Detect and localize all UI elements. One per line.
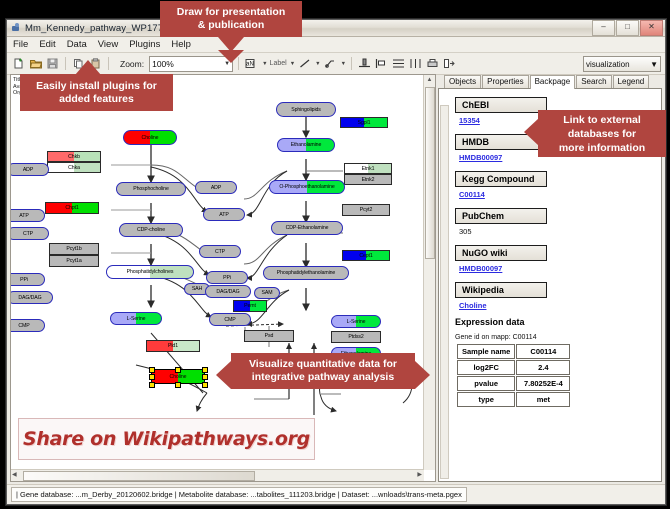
scroll-thumb-horizontal[interactable] — [23, 471, 255, 481]
status-text: | Gene database: ...m_Derby_20120602.bri… — [11, 487, 467, 502]
visualization-value: visualization — [586, 60, 630, 69]
callout-draw-line2: & publication — [198, 19, 265, 32]
minimize-button[interactable]: – — [592, 20, 615, 36]
callout-plugins-line2: added features — [59, 93, 134, 106]
db-value-pubchem: 305 — [459, 227, 661, 236]
pathway-node[interactable]: Chka — [47, 162, 101, 173]
pathway-node[interactable]: Phosphocholine — [116, 182, 186, 196]
visualization-combobox[interactable]: visualization ▼ — [583, 56, 661, 72]
scroll-left-icon[interactable]: ◀ — [12, 470, 17, 480]
pathway-node[interactable]: CMP — [209, 313, 251, 326]
db-header-kegg: Kegg Compound — [455, 171, 547, 187]
print-icon[interactable] — [425, 56, 440, 71]
pathway-node[interactable]: Etnk2 — [344, 174, 392, 185]
pathway-node[interactable]: Pld1 — [146, 340, 200, 352]
pathway-node[interactable]: PPi — [206, 271, 248, 284]
db-header-nugo: NuGO wiki — [455, 245, 547, 261]
callout-link: Link to external databases for more info… — [538, 110, 666, 157]
menu-edit[interactable]: Edit — [38, 39, 56, 50]
pathway-node[interactable]: CTP — [199, 245, 241, 258]
pathway-node[interactable]: Phosphatidylcholines — [106, 265, 194, 279]
pathway-node[interactable]: Choline — [123, 130, 177, 145]
callout-visualize-arrow-left-icon — [216, 361, 231, 389]
table-row: Sample name C00114 — [457, 344, 570, 359]
pathway-node[interactable]: CDP-choline — [119, 223, 183, 237]
status-bar: | Gene database: ...m_Derby_20120602.bri… — [7, 484, 665, 504]
zoom-label: Zoom: — [120, 59, 144, 69]
pathway-node[interactable]: Chpt1 — [45, 202, 99, 214]
distribute-vertical-icon[interactable] — [391, 56, 406, 71]
backpage-scrollbar[interactable] — [440, 105, 449, 479]
tab-legend[interactable]: Legend — [613, 75, 650, 88]
cell-label: log2FC — [457, 360, 515, 375]
pathway-node[interactable]: DAG/DAG — [10, 291, 53, 304]
pathway-node[interactable]: Sgpl1 — [340, 117, 388, 128]
menu-help[interactable]: Help — [170, 39, 192, 50]
expression-data-title: Expression data — [455, 317, 661, 327]
db-header-wikipedia: Wikipedia — [455, 282, 547, 298]
pathway-node[interactable]: ADP — [195, 181, 237, 194]
chevron-down-icon[interactable]: ▼ — [262, 61, 267, 67]
callout-plugins: Easily install plugins for added feature… — [20, 74, 173, 111]
cell-value: met — [516, 392, 570, 407]
toolbar-separator — [351, 57, 352, 70]
menu-data[interactable]: Data — [66, 39, 88, 50]
callout-link-arrow-icon — [524, 118, 539, 146]
pathway-node[interactable]: Pcyt1b — [49, 243, 99, 255]
maximize-button[interactable]: □ — [616, 20, 639, 36]
pathway-node[interactable]: Pcyt1a — [49, 255, 99, 267]
screenshot-root: Mm_Kennedy_pathway_WP1771_45176.gpml – □… — [0, 0, 670, 509]
pathway-node[interactable]: Sphingolipids — [276, 102, 336, 117]
pathway-node[interactable]: ATP — [203, 208, 245, 221]
gene-id-line: Gene id on mapp: C00114 — [455, 334, 661, 341]
menu-plugins[interactable]: Plugins — [128, 39, 161, 50]
app-logo-icon — [11, 23, 21, 33]
pathway-node[interactable]: O-Phosphoethanolamine — [269, 180, 345, 194]
callout-visualize-line1: Visualize quantitative data for — [249, 358, 397, 371]
table-row: type met — [457, 392, 570, 407]
menu-bar: File Edit Data View Plugins Help — [7, 37, 665, 53]
pathway-node[interactable]: DAG/DAG — [205, 285, 251, 298]
side-panel-tabs: Objects Properties Backpage Search Legen… — [438, 74, 662, 89]
tab-backpage[interactable]: Backpage — [530, 75, 576, 89]
canvas-scrollbar-horizontal[interactable]: ◀ ▶ — [11, 469, 424, 481]
db-header-pubchem: PubChem — [455, 208, 547, 224]
cell-label: type — [457, 392, 515, 407]
menu-file[interactable]: File — [12, 39, 29, 50]
callout-draw-line1: Draw for presentation — [177, 6, 286, 19]
callout-link-line2: databases for — [568, 127, 636, 141]
callout-share: Share on Wikipathways.org — [18, 418, 315, 460]
toolbar-separator — [65, 57, 66, 70]
cell-value: C00114 — [516, 344, 570, 359]
scroll-thumb-vertical[interactable] — [425, 87, 435, 259]
callout-visualize-line2: integrative pathway analysis — [252, 371, 394, 384]
interaction-tool-icon[interactable] — [323, 56, 338, 71]
label-tool-label[interactable]: Label — [270, 60, 287, 67]
pathway-node[interactable]: ATP — [10, 209, 45, 222]
cell-label: Sample name — [457, 344, 515, 359]
callout-link-line3: more information — [559, 141, 645, 155]
window-controls: – □ ✕ — [592, 20, 663, 36]
menu-view[interactable]: View — [97, 39, 119, 50]
line-tool-icon[interactable] — [297, 56, 312, 71]
callout-share-text: Share on Wikipathways.org — [23, 428, 310, 450]
callout-draw-arrow2-icon — [218, 50, 244, 63]
pathway-node[interactable]: Cept1 — [342, 250, 390, 261]
pathway-node[interactable]: Psd — [244, 330, 294, 342]
chevron-down-icon[interactable]: ▼ — [315, 61, 320, 67]
db-link-kegg[interactable]: C00114 — [459, 190, 661, 199]
tab-search[interactable]: Search — [576, 75, 611, 88]
canvas-scrollbar-vertical[interactable]: ▲ — [423, 75, 435, 470]
open-folder-icon[interactable] — [28, 56, 43, 71]
pathway-node[interactable]: CTP — [10, 227, 49, 240]
align-bottom-icon[interactable] — [357, 56, 372, 71]
datanode-icon[interactable]: aN — [244, 56, 259, 71]
pathway-node[interactable]: Pcyt2 — [342, 204, 390, 216]
pathway-node[interactable]: Pemt — [233, 300, 267, 312]
db-link-nugo[interactable]: HMDB00097 — [459, 264, 661, 273]
toolbar-separator — [108, 57, 109, 70]
db-link-wikipedia[interactable]: Choline — [459, 301, 661, 310]
chevron-down-icon[interactable]: ▼ — [290, 61, 295, 67]
callout-draw: Draw for presentation & publication — [160, 1, 302, 37]
cell-label: pvalue — [457, 376, 515, 391]
distribute-horizontal-icon[interactable] — [408, 56, 423, 71]
tab-properties[interactable]: Properties — [482, 75, 528, 88]
cell-value: 2.4 — [516, 360, 570, 375]
new-file-icon[interactable] — [11, 56, 26, 71]
pathway-node[interactable]: CDP-Ethanolamine — [271, 221, 343, 235]
callout-visualize: Visualize quantitative data for integrat… — [231, 353, 415, 389]
chevron-down-icon: ▼ — [650, 60, 658, 69]
pathway-node[interactable]: Chkb — [47, 151, 101, 162]
pathway-node[interactable]: Ethanolamine — [277, 138, 335, 152]
table-row: log2FC 2.4 — [457, 360, 570, 375]
pathway-node[interactable]: L-Serine — [110, 312, 162, 325]
svg-text:aN: aN — [246, 62, 254, 68]
db-header-chebi: ChEBI — [455, 97, 547, 113]
pathway-node[interactable]: Ptdss2 — [331, 331, 381, 343]
callout-link-line1: Link to external — [563, 113, 641, 127]
scroll-right-icon[interactable]: ▶ — [417, 470, 422, 480]
callout-plugins-arrow-icon — [75, 60, 101, 75]
pathway-node[interactable]: Phosphatidylethanolamine — [263, 266, 349, 280]
pathway-node[interactable]: SAM — [254, 287, 280, 299]
chevron-down-icon[interactable]: ▼ — [341, 61, 346, 67]
pathway-node[interactable]: CMP — [10, 319, 45, 332]
title-bar: Mm_Kennedy_pathway_WP1771_45176.gpml – □… — [7, 20, 665, 37]
save-icon[interactable] — [45, 56, 60, 71]
pathway-node[interactable]: L-Serine — [331, 315, 381, 328]
callout-plugins-line1: Easily install plugins for — [36, 80, 157, 93]
table-row: pvalue 7.80252E-4 — [457, 376, 570, 391]
scroll-up-icon[interactable]: ▲ — [424, 75, 435, 85]
export-icon[interactable] — [442, 56, 457, 71]
callout-visualize-arrow-right-icon — [415, 361, 430, 389]
cell-value: 7.80252E-4 — [516, 376, 570, 391]
expression-table: Sample name C00114 log2FC 2.4 pvalue 7.8… — [456, 343, 571, 408]
pathway-node[interactable]: PPi — [10, 273, 45, 286]
close-button[interactable]: ✕ — [640, 20, 663, 36]
pathway-canvas[interactable]: Title: Availa Organi — [11, 75, 423, 473]
pathway-node[interactable]: Etnk1 — [344, 163, 392, 174]
zoom-value: 100% — [152, 59, 174, 69]
align-left-icon[interactable] — [374, 56, 389, 71]
tab-objects[interactable]: Objects — [444, 75, 481, 88]
pathway-node[interactable]: ADP — [10, 163, 49, 176]
